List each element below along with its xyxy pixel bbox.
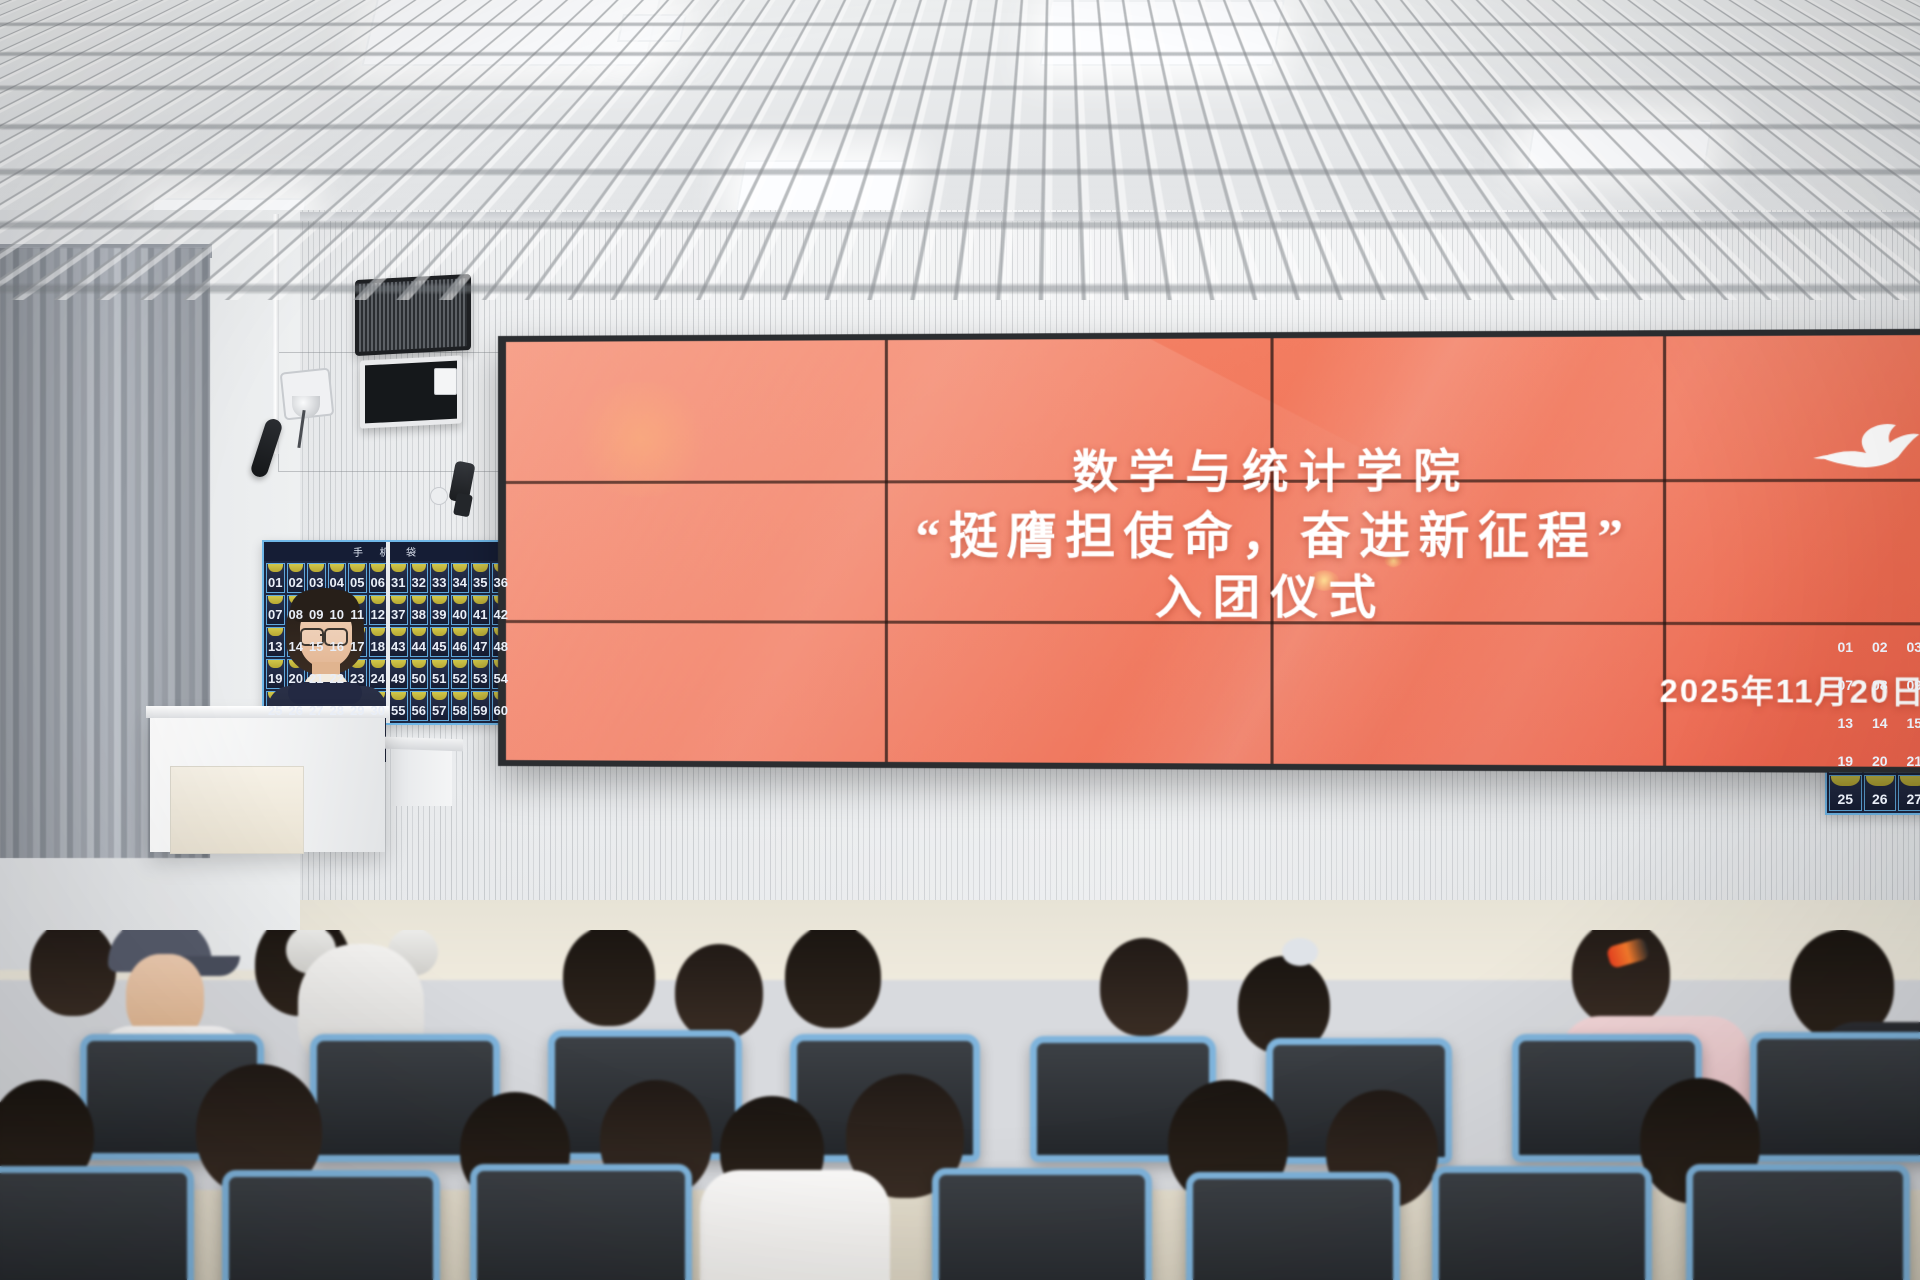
pocket-number: 13 — [1837, 715, 1853, 731]
pocket-number: 05 — [350, 575, 364, 590]
pocket-cell: 43 — [389, 627, 408, 657]
pocket-number: 19 — [1837, 753, 1853, 769]
audience-head — [675, 944, 763, 1040]
pocket-number: 12 — [371, 607, 385, 622]
pocket-number: 26 — [289, 703, 303, 718]
pocket-number: 19 — [268, 671, 282, 686]
pocket-cell: 50 — [410, 659, 429, 689]
pocket-number: 33 — [432, 575, 446, 590]
audience-head — [563, 930, 655, 1026]
pocket-cell: 41 — [471, 595, 490, 625]
ceiling-panel-light — [735, 160, 908, 212]
pocket-cell: 52 — [451, 659, 470, 689]
pocket-number: 29 — [350, 703, 364, 718]
pocket-number: 02 — [289, 575, 303, 590]
pocket-cell: 32 — [410, 563, 429, 593]
pocket-number: 14 — [1872, 715, 1888, 731]
screen-line-college: 数学与统计学院 — [506, 433, 1920, 502]
pocket-number: 25 — [268, 703, 282, 718]
pocket-number: 44 — [412, 639, 426, 654]
pocket-number: 41 — [473, 607, 487, 622]
auditorium-seat — [0, 1166, 194, 1280]
screen-line-slogan: “挺膺担使命，奋进新征程” — [506, 495, 1920, 569]
led-video-wall: 数学与统计学院 “挺膺担使命，奋进新征程” 入团仪式 2025年11月20日 — [498, 328, 1920, 774]
pocket-cell: 49 — [389, 659, 408, 689]
screen-line-ceremony: 入团仪式 — [506, 560, 1920, 629]
pocket-cell: 45 — [430, 627, 449, 657]
pocket-number: 39 — [432, 607, 446, 622]
pocket-number: 50 — [412, 671, 426, 686]
pocket-cell: 40 — [451, 595, 470, 625]
auditorium-seat — [932, 1168, 1152, 1280]
pocket-cell: 35 — [471, 563, 490, 593]
pocket-cell: 47 — [471, 627, 490, 657]
pocket-number: 45 — [432, 639, 446, 654]
auditorium-seat — [1686, 1164, 1910, 1280]
pocket-cell: 34 — [451, 563, 470, 593]
ceiling-panel-light — [361, 0, 662, 66]
audience-head — [30, 930, 116, 1016]
audience-head — [1100, 938, 1188, 1036]
audience-head — [785, 930, 881, 1028]
pocket-number: 31 — [391, 575, 405, 590]
pocket-number: 08 — [1872, 677, 1888, 693]
ceiling-panel-light — [1526, 120, 1713, 170]
pocket-number: 27 — [1906, 791, 1920, 807]
pocket-number: 21 — [1906, 753, 1920, 769]
pocket-cell: 59 — [471, 691, 490, 721]
pocket-number: 02 — [1872, 639, 1888, 655]
pocket-number: 20 — [289, 671, 303, 686]
pocket-number: 34 — [453, 575, 467, 590]
hair-accessory — [1282, 938, 1318, 966]
pocket-number: 25 — [1837, 791, 1853, 807]
audience-white-jacket — [700, 1170, 890, 1280]
pocket-number: 08 — [289, 607, 303, 622]
pocket-number: 04 — [330, 575, 344, 590]
pocket-number: 26 — [1872, 791, 1888, 807]
pocket-cell: 04 — [328, 563, 347, 593]
auditorium-seat — [1432, 1166, 1652, 1280]
pocket-number: 11 — [350, 607, 364, 622]
pocket-cell: 26 — [1864, 775, 1897, 811]
pocket-number: 30 — [371, 703, 385, 718]
pocket-cell: 38 — [410, 595, 429, 625]
pocket-cell: 46 — [451, 627, 470, 657]
pocket-cell: 56 — [410, 691, 429, 721]
pocket-number: 18 — [371, 639, 385, 654]
pocket-number: 35 — [473, 575, 487, 590]
pocket-number: 40 — [453, 607, 467, 622]
pocket-number: 13 — [268, 639, 282, 654]
pocket-number: 51 — [432, 671, 446, 686]
pocket-cell: 53 — [471, 659, 490, 689]
pocket-cell: 58 — [451, 691, 470, 721]
pocket-number: 07 — [268, 607, 282, 622]
pocket-number: 22 — [330, 671, 344, 686]
pocket-cell: 03 — [307, 563, 326, 593]
auditorium-seat — [222, 1170, 440, 1280]
pocket-cell: 51 — [430, 659, 449, 689]
photo-scene: 手 机 袋 0102030405063132333435360708091011… — [0, 0, 1920, 1280]
pocket-number: 57 — [432, 703, 446, 718]
eyeglasses-bridge — [320, 634, 326, 636]
pocket-number: 58 — [453, 703, 467, 718]
pocket-number: 21 — [309, 671, 323, 686]
pocket-number: 55 — [391, 703, 405, 718]
pocket-number: 47 — [473, 639, 487, 654]
pocket-cell: 57 — [430, 691, 449, 721]
pocket-number: 24 — [371, 671, 385, 686]
pocket-number: 37 — [391, 607, 405, 622]
pocket-number: 53 — [473, 671, 487, 686]
podium-front-panel — [170, 766, 304, 854]
auditorium-seat — [1750, 1032, 1920, 1162]
pocket-number: 01 — [268, 575, 282, 590]
pocket-number: 60 — [494, 703, 508, 718]
audience-area — [0, 930, 1920, 1280]
pocket-number: 36 — [494, 575, 508, 590]
pocket-number: 03 — [309, 575, 323, 590]
pocket-chart-grid: 0102030407080910131415161920212225262728 — [1827, 621, 1920, 813]
pocket-number: 52 — [453, 671, 467, 686]
pocket-cell: 44 — [410, 627, 429, 657]
screen-text-block: 数学与统计学院 “挺膺担使命，奋进新征程” 入团仪式 2025年11月20日 — [506, 334, 1920, 767]
pocket-number: 10 — [330, 607, 344, 622]
side-table-leg — [392, 748, 452, 806]
pocket-number: 42 — [494, 607, 508, 622]
pocket-cell: 37 — [389, 595, 408, 625]
pocket-number: 20 — [1872, 753, 1888, 769]
pocket-number: 07 — [1837, 677, 1853, 693]
pocket-number: 56 — [412, 703, 426, 718]
auditorium-seat — [1186, 1172, 1400, 1280]
wall-speaker-icon — [355, 274, 471, 356]
pocket-number: 16 — [330, 639, 344, 654]
pocket-cell: 33 — [430, 563, 449, 593]
ceiling-panel-light — [617, 14, 687, 42]
pocket-cell: 31 — [389, 563, 408, 593]
wall-outlet — [434, 368, 457, 395]
pocket-number: 03 — [1906, 639, 1920, 655]
pocket-number: 23 — [350, 671, 364, 686]
video-wall-screen: 数学与统计学院 “挺膺担使命，奋进新征程” 入团仪式 2025年11月20日 — [506, 334, 1920, 767]
pocket-number: 27 — [309, 703, 323, 718]
wall-socket — [430, 487, 448, 505]
pocket-number: 09 — [309, 607, 323, 622]
pocket-number: 32 — [412, 575, 426, 590]
pocket-number: 46 — [453, 639, 467, 654]
pocket-cell: 01 — [266, 563, 285, 593]
pocket-number: 09 — [1906, 677, 1920, 693]
pocket-cell: 55 — [389, 691, 408, 721]
pocket-cell: 25 — [1829, 775, 1862, 811]
auditorium-seat — [470, 1164, 692, 1280]
pocket-cell: 05 — [348, 563, 367, 593]
pocket-number: 38 — [412, 607, 426, 622]
pocket-number: 01 — [1837, 639, 1853, 655]
pocket-number: 06 — [371, 575, 385, 590]
pocket-number: 43 — [391, 639, 405, 654]
pocket-number: 14 — [289, 639, 303, 654]
pocket-cell: 02 — [287, 563, 306, 593]
pocket-cell: 39 — [430, 595, 449, 625]
pocket-cell: 27 — [1898, 775, 1920, 811]
ceiling-panel-light — [1039, 0, 1285, 66]
pocket-number: 15 — [309, 639, 323, 654]
pocket-number: 48 — [494, 639, 508, 654]
pocket-number: 17 — [350, 639, 364, 654]
pocket-number: 28 — [330, 703, 344, 718]
pocket-cell: 06 — [369, 563, 388, 593]
pocket-number: 15 — [1906, 715, 1920, 731]
pocket-number: 59 — [473, 703, 487, 718]
pocket-number: 49 — [391, 671, 405, 686]
pocket-number: 54 — [494, 671, 508, 686]
